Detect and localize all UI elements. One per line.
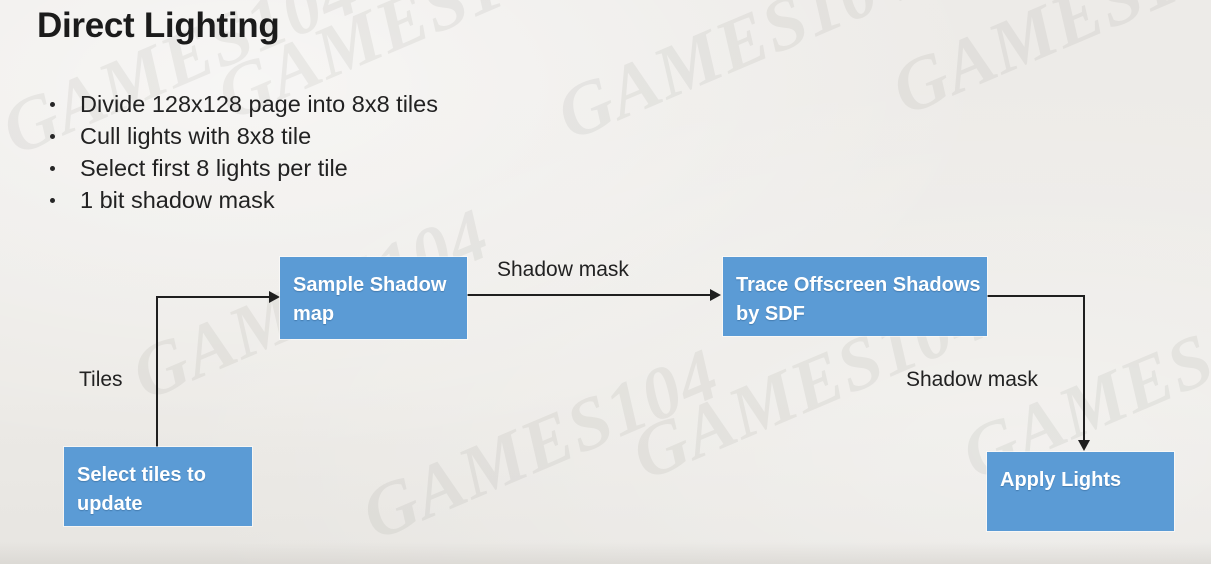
page-title: Direct Lighting [37, 6, 279, 46]
watermark: GAMES104 [545, 0, 926, 158]
list-item: Divide 128x128 page into 8x8 tiles [47, 88, 438, 120]
edge-label-shadow-mask-right: Shadow mask [906, 368, 1038, 392]
node-select-tiles[interactable]: Select tiles to update [64, 447, 252, 526]
edge-tiles-arrowhead [269, 291, 280, 303]
node-trace-offscreen-shadows[interactable]: Trace Offscreen Shadows by SDF [723, 257, 987, 336]
list-item: Cull lights with 8x8 tile [47, 120, 438, 152]
bottom-edge-band [0, 542, 1211, 564]
node-sample-shadow-map[interactable]: Sample Shadow map [280, 257, 467, 339]
edge-tiles-vertical [156, 296, 158, 448]
list-item: Select first 8 lights per tile [47, 152, 438, 184]
edge-shadow-mask-top-arrowhead [710, 289, 721, 301]
bullet-list: Divide 128x128 page into 8x8 tiles Cull … [47, 88, 438, 216]
edge-label-shadow-mask-top: Shadow mask [497, 258, 629, 282]
edge-label-tiles: Tiles [79, 368, 123, 392]
slide-canvas: GAMES104 GAMES104 GAMES104 GAMES104 GAME… [0, 0, 1211, 564]
watermark: GAMES104 [880, 0, 1211, 133]
watermark: GAMES104 [350, 332, 731, 558]
edge-shadow-mask-top-line [466, 294, 711, 296]
edge-shadow-mask-right-arrowhead [1078, 440, 1090, 451]
edge-shadow-mask-right-vertical [1083, 295, 1085, 441]
edge-tiles-horizontal [156, 296, 270, 298]
edge-shadow-mask-right-horizontal [986, 295, 1085, 297]
node-apply-lights[interactable]: Apply Lights [987, 452, 1174, 531]
list-item: 1 bit shadow mask [47, 184, 438, 216]
